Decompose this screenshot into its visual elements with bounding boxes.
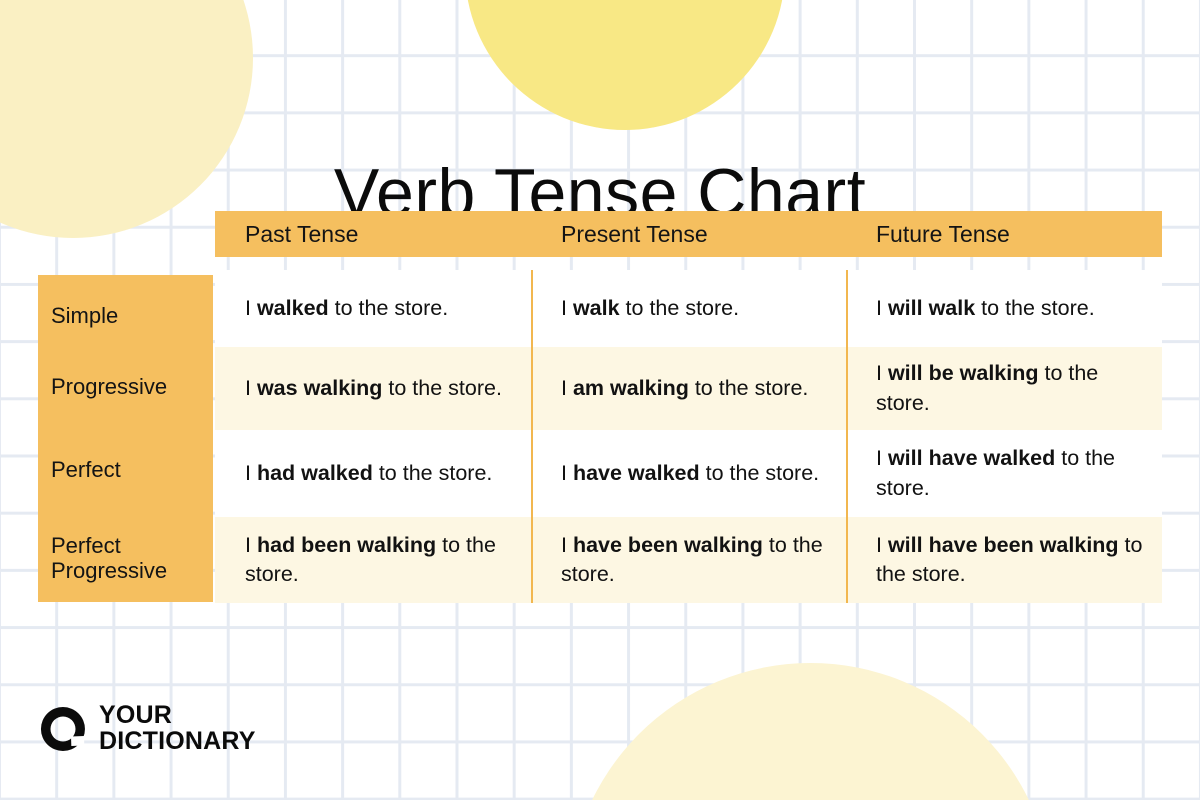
- row-label-simple: Simple: [51, 304, 213, 329]
- column-divider: [531, 270, 533, 347]
- column-divider: [846, 430, 848, 517]
- column-divider: [846, 347, 848, 430]
- yourdictionary-logo[interactable]: YOUR DICTIONARY: [38, 703, 256, 754]
- cell-perfect-progressive-future: I will have been walking to the store.: [846, 517, 1162, 603]
- cell-perfect-progressive-past: I had been walking to the store.: [215, 517, 531, 603]
- cell-progressive-past: I was walking to the store.: [215, 347, 531, 430]
- table-header-row: Past Tense Present Tense Future Tense: [215, 211, 1162, 257]
- logo-wordmark: YOUR DICTIONARY: [99, 703, 256, 754]
- row-label-progressive: Progressive: [51, 375, 213, 400]
- cell-simple-past: I walked to the store.: [215, 270, 531, 347]
- table-row: I walked to the store. I walk to the sto…: [215, 270, 1162, 347]
- cell-perfect-past: I had walked to the store.: [215, 430, 531, 517]
- column-divider: [846, 517, 848, 603]
- column-divider: [531, 430, 533, 517]
- row-label-column: Simple Progressive Perfect Perfect Progr…: [38, 275, 213, 602]
- cell-progressive-present: I am walking to the store.: [531, 347, 846, 430]
- poster-content: Verb Tense Chart Past Tense Present Tens…: [0, 0, 1200, 800]
- column-divider: [531, 347, 533, 430]
- column-divider: [531, 517, 533, 603]
- cell-perfect-present: I have walked to the store.: [531, 430, 846, 517]
- poster-canvas: Verb Tense Chart Past Tense Present Tens…: [0, 0, 1200, 800]
- table-row: I had walked to the store. I have walked…: [215, 430, 1162, 517]
- table-body: I walked to the store. I walk to the sto…: [215, 270, 1162, 603]
- cell-progressive-future: I will be walking to the store.: [846, 347, 1162, 430]
- column-header-present: Present Tense: [531, 221, 846, 248]
- cell-simple-future: I will walk to the store.: [846, 270, 1162, 347]
- column-divider: [846, 270, 848, 347]
- logo-line-dictionary: DICTIONARY: [99, 729, 256, 755]
- column-header-future: Future Tense: [846, 221, 1162, 248]
- row-label-perfect-progressive: Perfect Progressive: [51, 534, 213, 583]
- yourdictionary-q-icon: [38, 704, 88, 754]
- cell-simple-present: I walk to the store.: [531, 270, 846, 347]
- table-row: I had been walking to the store. I have …: [215, 517, 1162, 603]
- column-header-past: Past Tense: [215, 221, 531, 248]
- row-label-perfect: Perfect: [51, 458, 213, 483]
- table-row: I was walking to the store. I am walking…: [215, 347, 1162, 430]
- logo-line-your: YOUR: [99, 703, 256, 729]
- cell-perfect-progressive-present: I have been walking to the store.: [531, 517, 846, 603]
- cell-perfect-future: I will have walked to the store.: [846, 430, 1162, 517]
